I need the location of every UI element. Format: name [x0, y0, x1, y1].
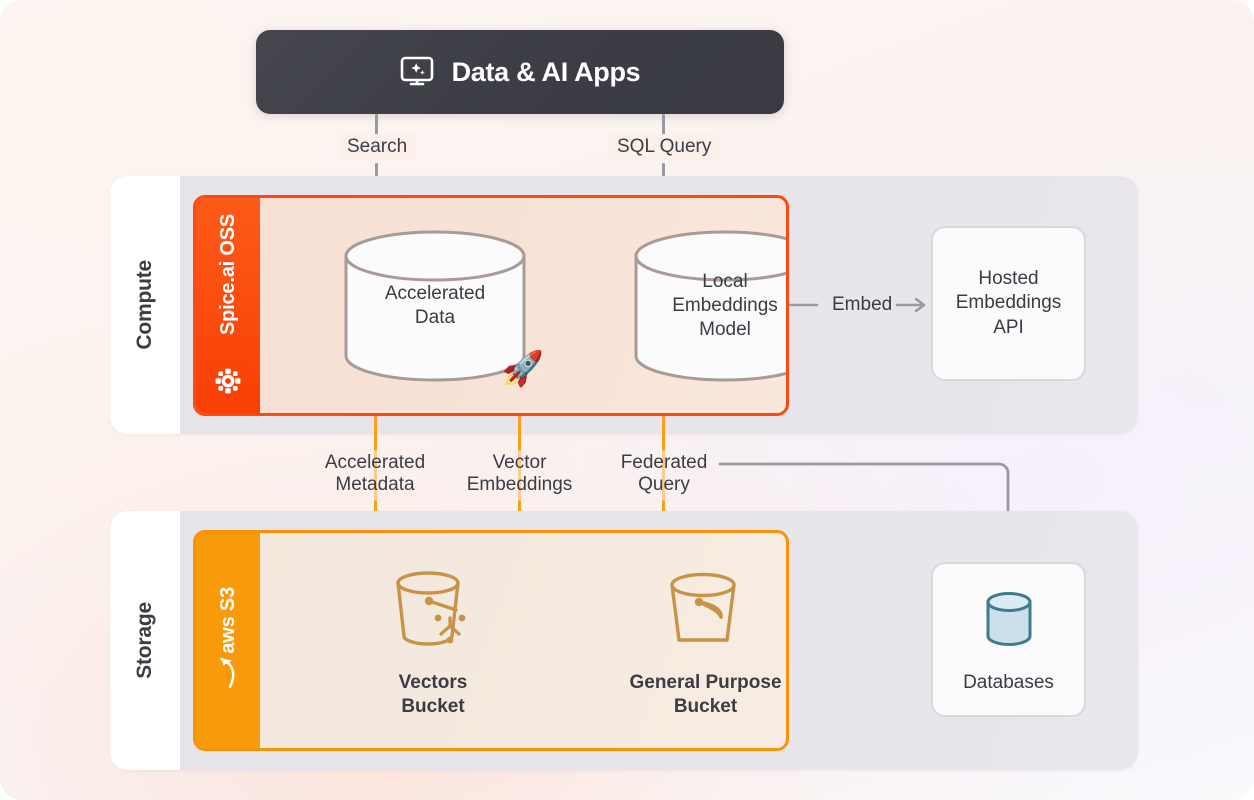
- aws-s3-brand: aws S3: [196, 533, 260, 748]
- spice-ai-oss-box[interactable]: Spice.ai OSS: [193, 195, 789, 416]
- cylinder-shape: [342, 230, 528, 382]
- node-databases[interactable]: Databases: [931, 562, 1086, 717]
- connector-label-federated-query: Federated Query: [601, 452, 727, 497]
- node-general-purpose-bucket-label: General Purpose Bucket: [629, 671, 781, 719]
- connector-line-accelerated-metadata-top: [374, 416, 377, 451]
- connector-label-vector-embeddings: Vector Embeddings: [453, 452, 586, 497]
- rocket-emoji: 🚀: [502, 352, 544, 386]
- node-databases-label: Databases: [963, 671, 1054, 695]
- aws-s3-content: Vectors Bucket General Purpose: [260, 533, 786, 748]
- node-vectors-bucket[interactable]: Vectors Bucket: [338, 563, 528, 723]
- bucket-icon: [663, 568, 749, 657]
- aws-s3-brand-label: aws S3: [217, 587, 240, 654]
- spice-gear-icon: [215, 368, 241, 399]
- data-ai-apps-bar[interactable]: Data & AI Apps: [256, 30, 784, 114]
- connector-label-sql-query: SQL Query: [600, 134, 728, 160]
- diagram-canvas: Data & AI Apps Search SQL Query Compute …: [0, 0, 1254, 800]
- connector-line-federated-query-top: [662, 416, 665, 451]
- aws-swoosh-icon: [218, 657, 238, 696]
- vectors-bucket-icon: [390, 568, 476, 657]
- spice-ai-oss-brand-label: Spice.ai OSS: [217, 214, 240, 335]
- aws-s3-box[interactable]: aws S3: [193, 530, 789, 751]
- node-accelerated-data[interactable]: Accelerated Data 🚀: [342, 230, 528, 382]
- connector-label-search: Search: [330, 134, 422, 160]
- node-vectors-bucket-label: Vectors Bucket: [399, 671, 468, 719]
- node-general-purpose-bucket[interactable]: General Purpose Bucket: [598, 563, 789, 723]
- connector-label-accelerated-metadata: Accelerated Metadata: [310, 452, 440, 497]
- layer-compute-label: Compute: [110, 176, 180, 434]
- node-local-embeddings-model[interactable]: Local Embeddings Model 🤗: [632, 230, 789, 382]
- connector-label-embed: Embed: [815, 292, 907, 318]
- layer-storage-label: Storage: [110, 511, 180, 770]
- spice-ai-oss-content: Accelerated Data 🚀 Local Embeddings Mode…: [260, 198, 786, 413]
- cylinder-shape: [632, 230, 789, 382]
- database-cylinder-icon: [974, 584, 1044, 661]
- node-hosted-embeddings-api[interactable]: Hosted Embeddings API: [931, 226, 1086, 381]
- apps-bar-title: Data & AI Apps: [452, 57, 641, 88]
- monitor-sparkle-icon: [400, 56, 434, 88]
- spice-ai-oss-brand: Spice.ai OSS: [196, 198, 260, 413]
- connector-line-vector-embeddings-top: [518, 416, 521, 451]
